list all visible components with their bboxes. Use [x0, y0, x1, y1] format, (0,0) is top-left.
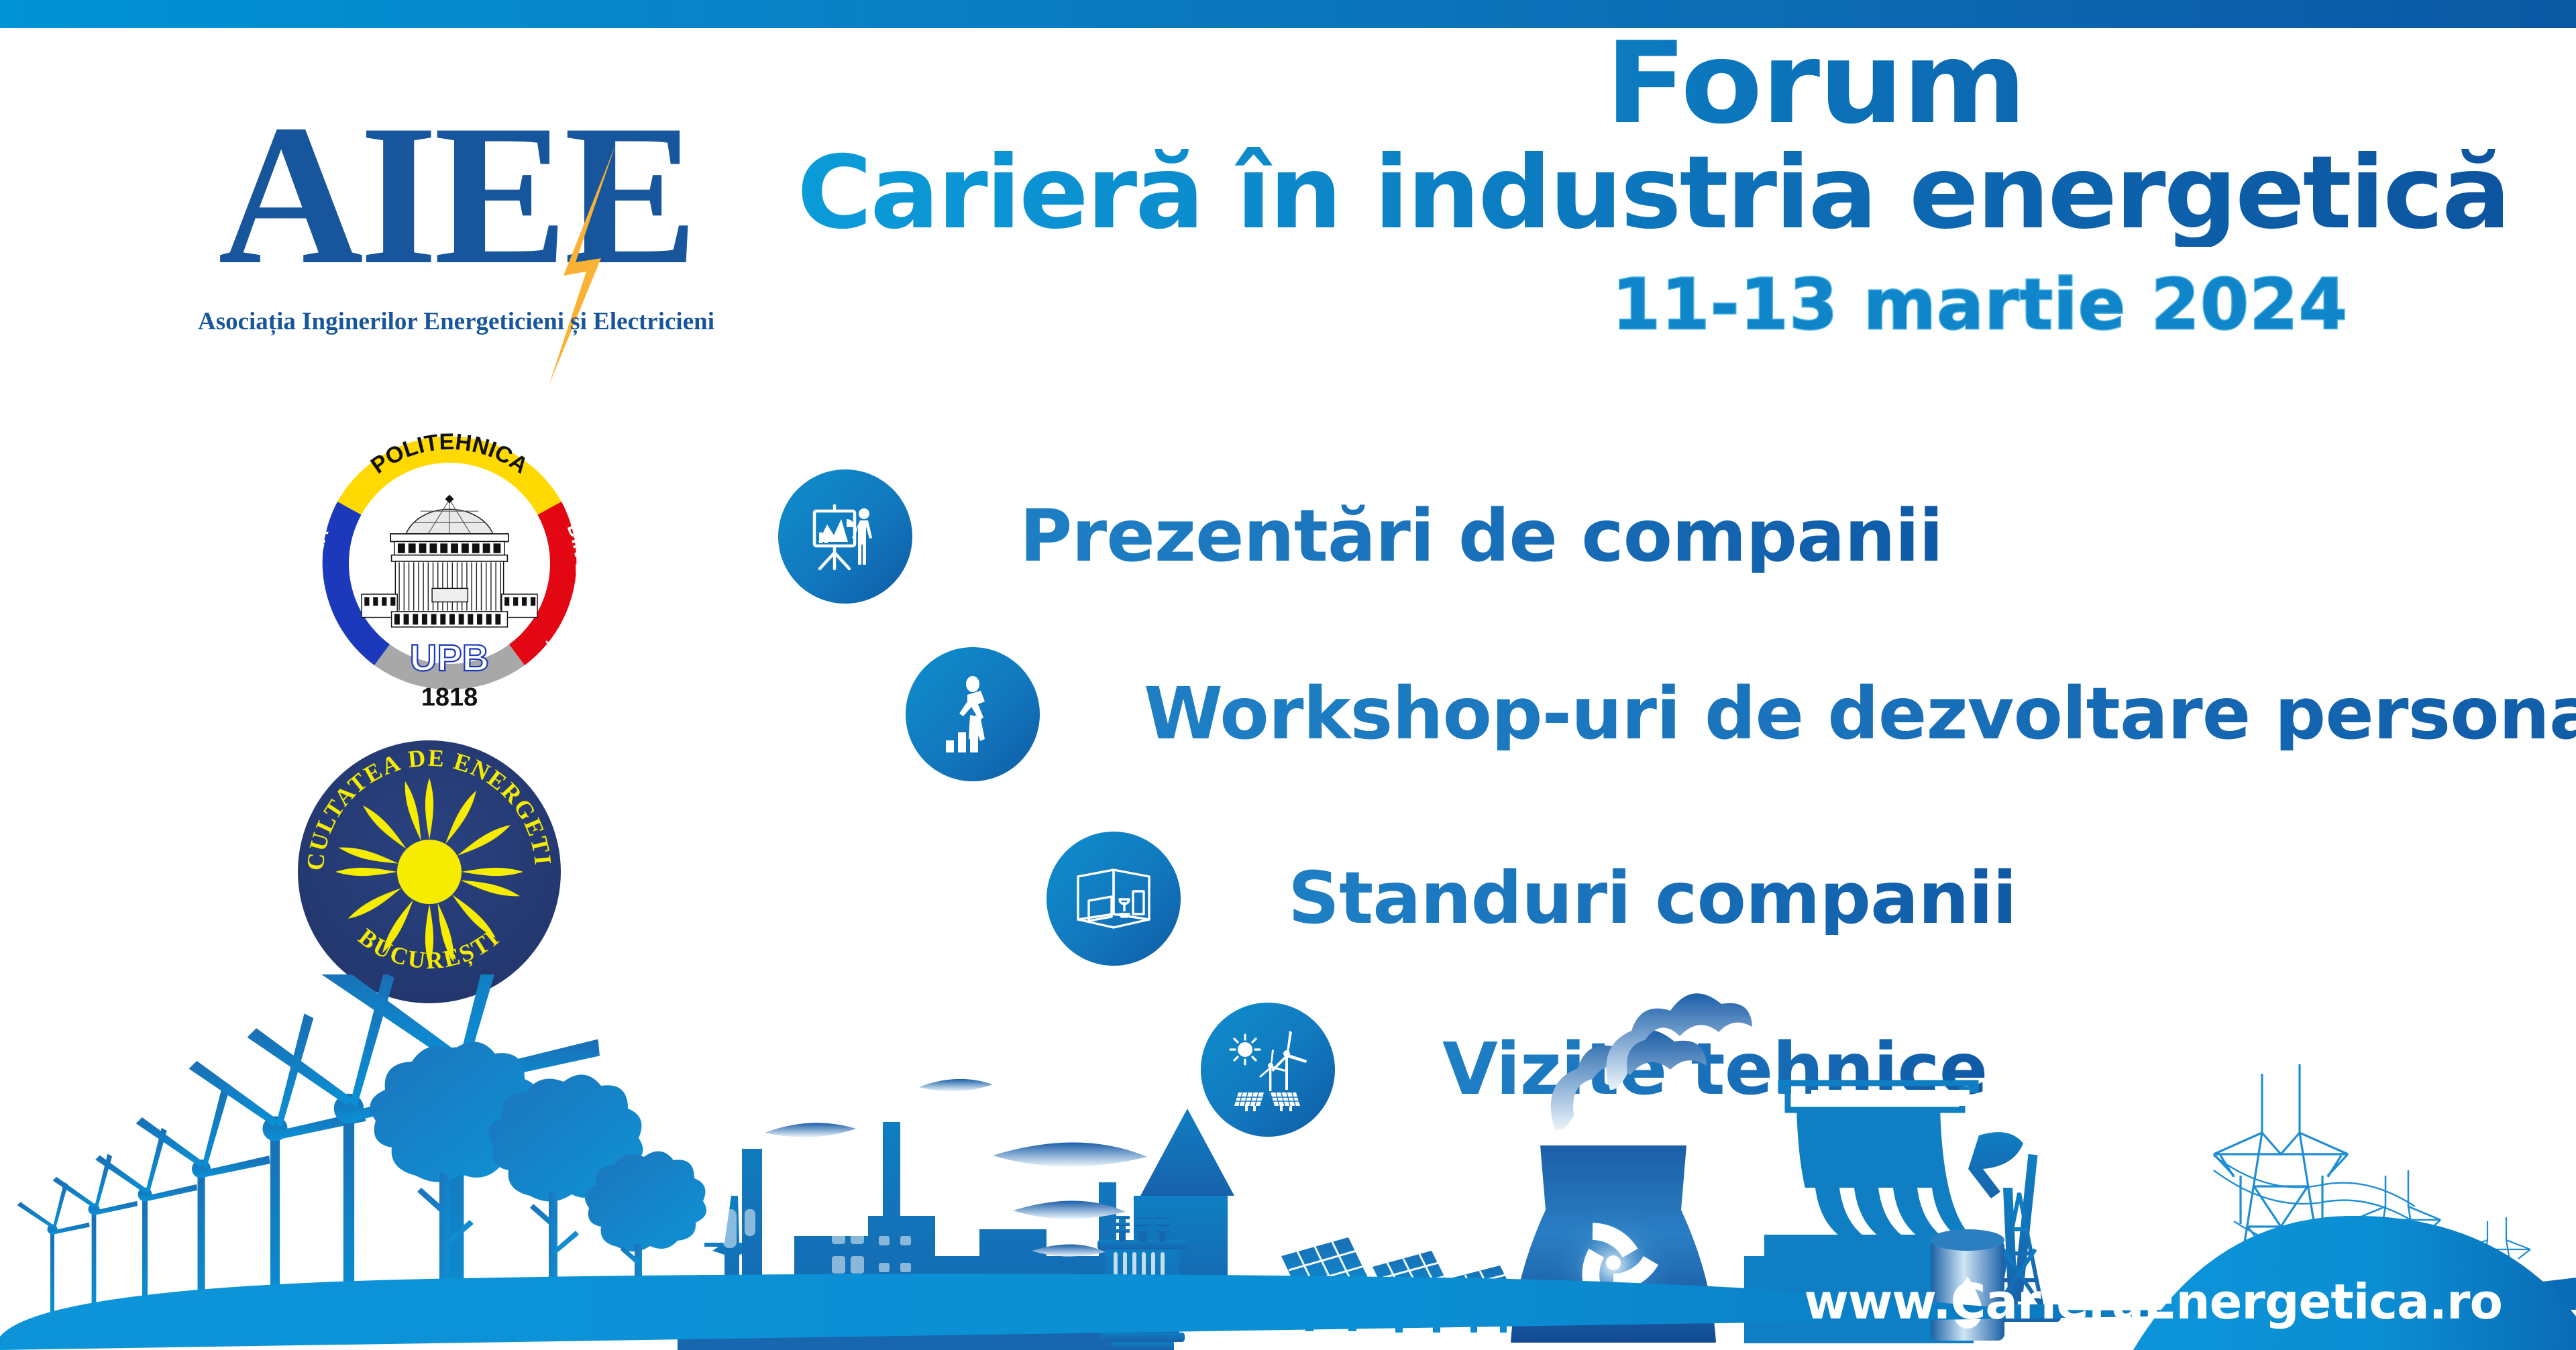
- exhibition-booth-icon: [1046, 832, 1181, 966]
- presentation-board-icon: [778, 469, 912, 604]
- energy-scenery-illustration: www.CarieraEnergetica.ro: [0, 974, 2576, 1350]
- feature-item-workshops[interactable]: Workshop-uri de dezvoltare personală: [906, 647, 2576, 781]
- headline-block: Forum Carieră în industria energetică 11…: [698, 27, 2509, 339]
- upb-year: 1818: [421, 683, 478, 712]
- event-date: 11-13 martie 2024: [698, 270, 2509, 339]
- feature-label: Standuri companii: [1288, 863, 2017, 935]
- top-decorative-bar: [0, 0, 2576, 28]
- faculty-logo: FACULTATEA DE ENERGETICA BUCUREȘTI: [295, 738, 563, 1006]
- poster-canvas: AIEE Asociația Inginerilor Energeticieni…: [0, 0, 2576, 1350]
- steam-clouds-icon: [1551, 993, 1752, 1130]
- feature-item-booths[interactable]: Standuri companii: [1046, 832, 2017, 966]
- website-url[interactable]: www.CarieraEnergetica.ro: [1804, 1274, 2502, 1330]
- upb-logo: POLITEHNICA DIN BUCUREȘTI UNIVERSITATEA …: [288, 402, 610, 724]
- forum-word: Forum: [589, 27, 2509, 139]
- smoke-plumes-icon: [765, 1079, 1147, 1257]
- event-title: Carieră în industria energetică: [661, 141, 2509, 247]
- feature-label: Prezentări de companii: [1020, 501, 1943, 573]
- feature-label: Workshop-uri de dezvoltare personală: [1144, 679, 2576, 750]
- feature-item-presentations[interactable]: Prezentări de companii: [778, 469, 1943, 604]
- upb-center-text: UPB: [410, 636, 489, 679]
- person-growth-chart-icon: [906, 647, 1040, 781]
- organizer-subtitle: Asociația Inginerilor Energeticieni și E…: [161, 307, 751, 336]
